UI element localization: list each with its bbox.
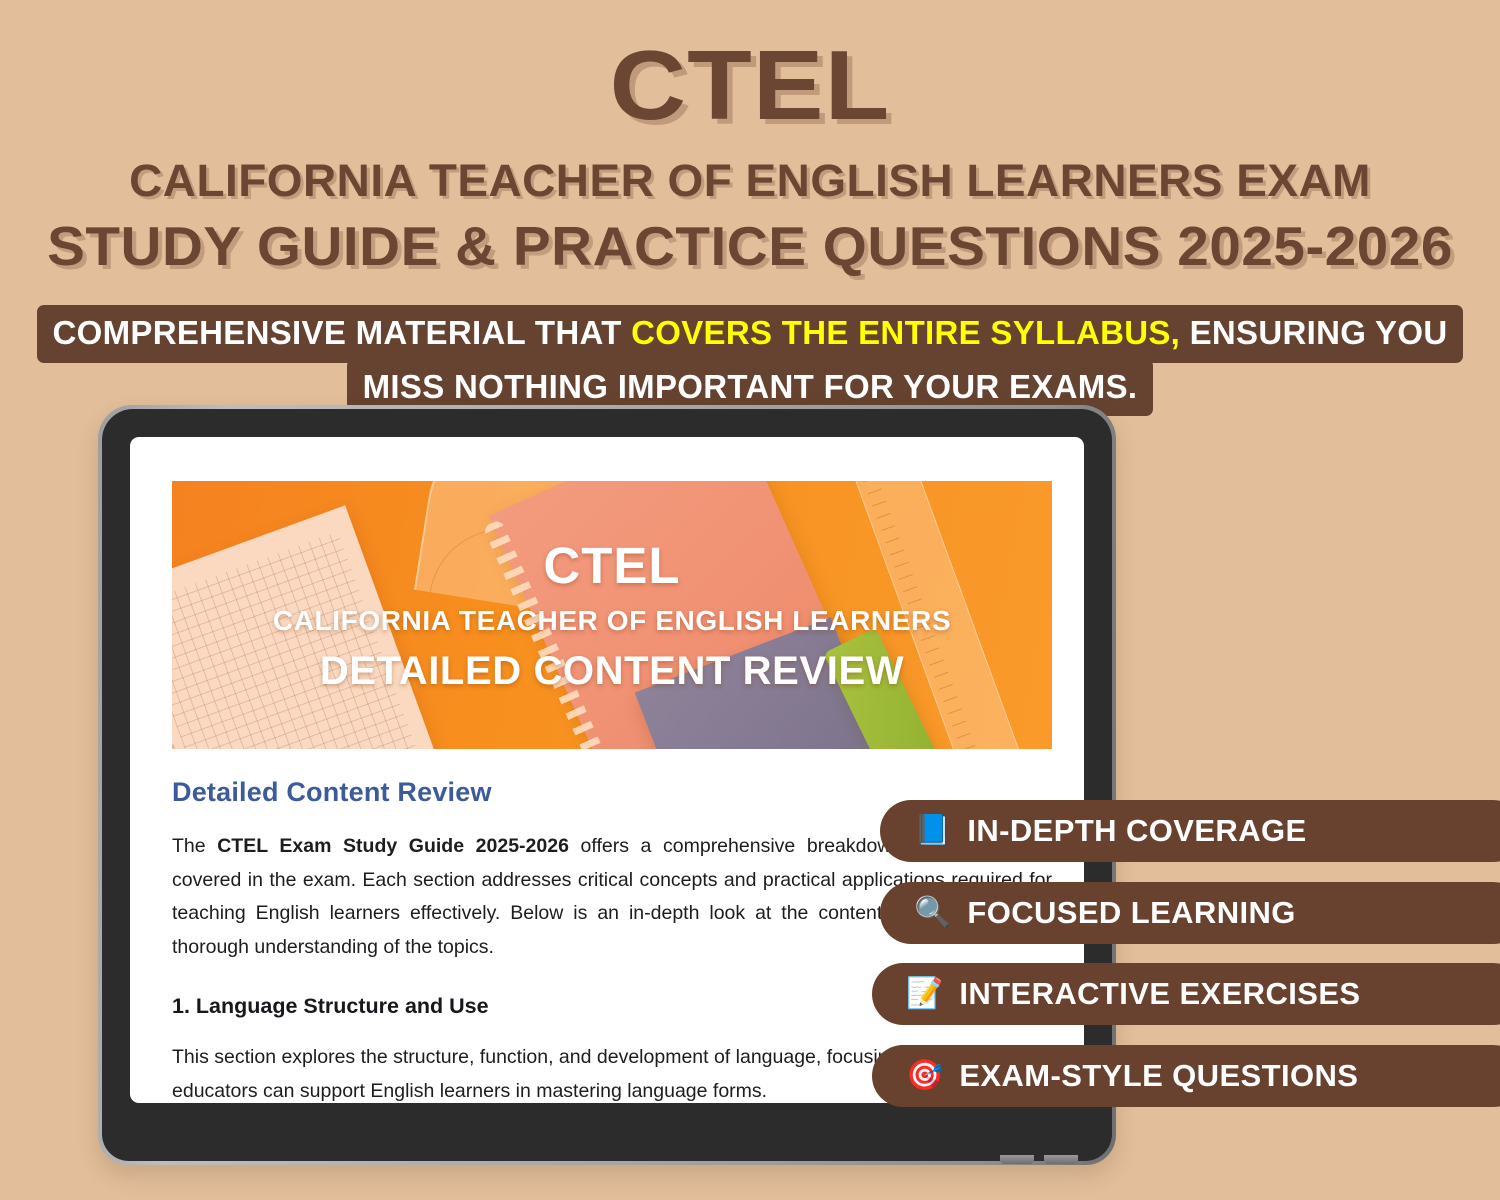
memo-pencil-icon: 📝: [906, 979, 943, 1009]
tagline-line-1-before: COMPREHENSIVE MATERIAL THAT: [53, 314, 632, 351]
feature-pill-label: FOCUSED LEARNING: [967, 895, 1295, 931]
feature-pill-label: EXAM-STYLE QUESTIONS: [959, 1058, 1358, 1094]
magnifying-glass-icon: 🔍: [914, 898, 951, 928]
feature-pill-label: INTERACTIVE EXERCISES: [959, 976, 1360, 1012]
tagline-line-1-after: ENSURING YOU: [1180, 314, 1447, 351]
tagline-highlight: COVERS THE ENTIRE SYLLABUS,: [631, 314, 1180, 351]
blue-book-icon: 📘: [914, 816, 951, 846]
paragraph-1-lead: The: [172, 835, 217, 857]
poster-canvas: CTEL CALIFORNIA TEACHER OF ENGLISH LEARN…: [0, 0, 1500, 1200]
page-subtitle-secondary: STUDY GUIDE & PRACTICE QUESTIONS 2025-20…: [0, 219, 1500, 274]
guide-name-bold: CTEL Exam Study Guide 2025-2026: [217, 835, 569, 857]
page-subtitle-primary: CALIFORNIA TEACHER OF ENGLISH LEARNERS E…: [0, 158, 1500, 203]
tagline-line-1: COMPREHENSIVE MATERIAL THAT COVERS THE E…: [37, 305, 1464, 363]
hero-text-block: CTEL CALIFORNIA TEACHER OF ENGLISH LEARN…: [172, 481, 1052, 749]
target-dart-icon: 🎯: [906, 1061, 943, 1091]
feature-pill-in-depth-coverage[interactable]: 📘 IN-DEPTH COVERAGE: [880, 800, 1500, 862]
page-title: CTEL: [0, 36, 1500, 134]
tablet-foot-right: [1044, 1155, 1078, 1164]
feature-pill-interactive-exercises[interactable]: 📝 INTERACTIVE EXERCISES: [872, 963, 1500, 1025]
feature-pill-focused-learning[interactable]: 🔍 FOCUSED LEARNING: [880, 882, 1500, 944]
tagline-banner: COMPREHENSIVE MATERIAL THAT COVERS THE E…: [0, 305, 1500, 416]
tablet-foot-left: [1000, 1155, 1034, 1164]
feature-pill-label: IN-DEPTH COVERAGE: [967, 813, 1306, 849]
hero-subtitle: CALIFORNIA TEACHER OF ENGLISH LEARNERS: [273, 607, 951, 635]
hero-title: CTEL: [543, 540, 680, 591]
document-hero-image: CTEL CALIFORNIA TEACHER OF ENGLISH LEARN…: [172, 481, 1052, 749]
feature-pill-exam-style-questions[interactable]: 🎯 EXAM-STYLE QUESTIONS: [872, 1045, 1500, 1107]
poster-header: CTEL CALIFORNIA TEACHER OF ENGLISH LEARN…: [0, 0, 1500, 274]
hero-tagline: DETAILED CONTENT REVIEW: [320, 651, 904, 691]
